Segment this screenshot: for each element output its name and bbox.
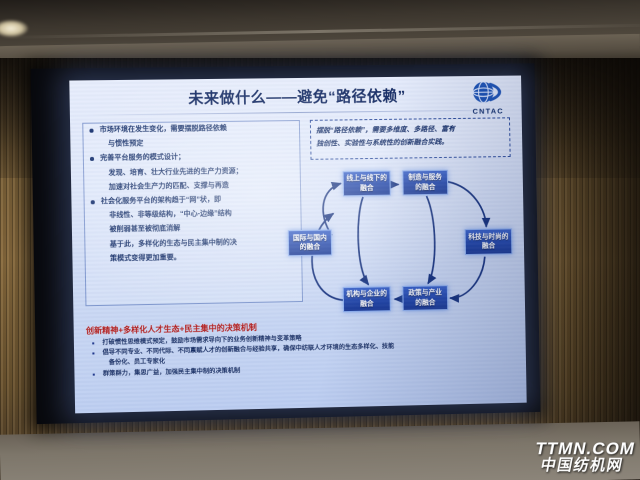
title-divider [86, 109, 506, 115]
node-label: 国际与国内的融合 [289, 233, 331, 253]
cntac-globe-icon [471, 80, 505, 106]
bullet-item: 策模式变得更加重要。 [86, 249, 302, 267]
diagram-node-online-offline[interactable]: 线上与线下的融合 [343, 171, 391, 197]
watermark: TTMN.COM 中国纺机网 [531, 440, 637, 474]
slide-title: 未来做什么——避免“路径依赖” [69, 83, 521, 109]
diagram-node-tech-fashion[interactable]: 科技与时尚的融合 [465, 228, 513, 255]
diagram-node-manufacturing-service[interactable]: 制造与服务的融合 [402, 170, 448, 196]
cntac-logo-text: CNTAC [462, 106, 513, 116]
node-label: 政策与产业的融合 [403, 288, 447, 308]
node-label: 机构与企业的融合 [344, 289, 390, 309]
cntac-logo: CNTAC [462, 80, 514, 122]
node-label: 科技与时尚的融合 [466, 232, 512, 252]
watermark-site-name: 中国纺机网 [531, 458, 634, 474]
node-label: 制造与服务的融合 [403, 173, 447, 193]
dashed-callout-box: 摆脱“路径依赖”，需要多维度、多路径、富有 独创性、实验性与系统性的创新融合实践… [310, 117, 511, 160]
bottom-heading: 创新精神+多样化人才生态+民主集中的决策机制 [86, 322, 257, 337]
left-bullet-panel: 市场环境在发生变化，需要摆脱路径依赖 与惯性预定 完善平台服务的模式设计； 发现… [82, 120, 303, 306]
bottom-bullet-list: 打破惯性思维模式预定，鼓励市场需求导向下的业务创新精神与变革策略 倡导不同专业、… [86, 329, 516, 379]
conference-room-photo: 未来做什么——避免“路径依赖” CNTAC 市场环境在发生变化，需要摆脱路径依赖… [0, 0, 640, 480]
diagram-node-policy-industry[interactable]: 政策与产业的融合 [402, 285, 448, 311]
callout-line: 独创性、实验性与系统性的创新融合实践。 [316, 135, 504, 151]
diagram-node-international-domestic[interactable]: 国际与国内的融合 [288, 229, 332, 256]
diagram-node-org-enterprise[interactable]: 机构与企业的融合 [343, 286, 391, 312]
presentation-slide: 未来做什么——避免“路径依赖” CNTAC 市场环境在发生变化，需要摆脱路径依赖… [69, 76, 526, 414]
fusion-cycle-diagram: 线上与线下的融合 制造与服务的融合 科技与时尚的融合 政策与产业的融合 机构与企… [287, 167, 525, 319]
watermark-domain: TTMN.COM [534, 440, 637, 458]
node-label: 线上与线下的融合 [344, 174, 390, 194]
